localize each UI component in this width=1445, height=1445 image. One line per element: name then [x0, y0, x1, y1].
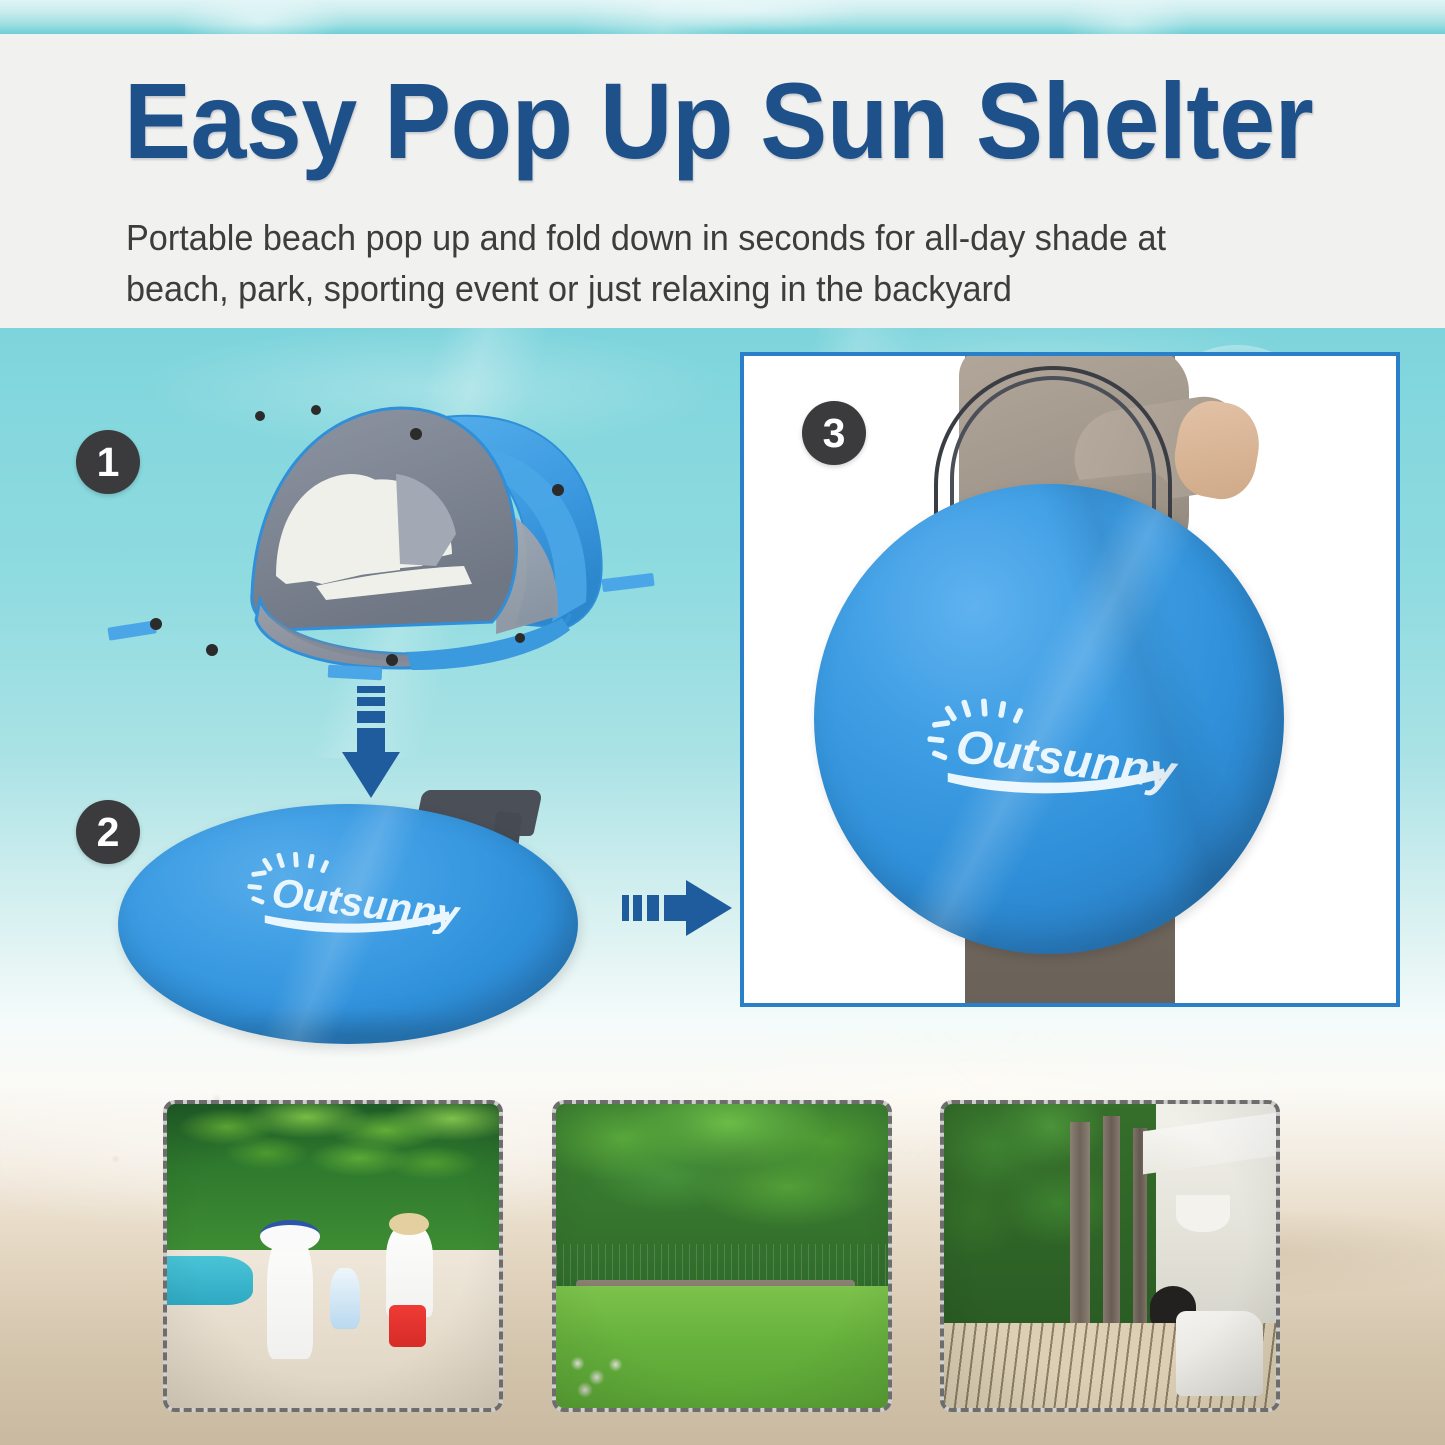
step-badge-3: 3	[802, 401, 866, 465]
folded-carry-bag: Outsunny	[118, 790, 578, 1048]
page-title: Easy Pop Up Sun Shelter	[124, 66, 1313, 176]
photo-beach-family	[163, 1100, 503, 1412]
pop-up-tent-illustration	[100, 388, 670, 688]
header-block: Easy Pop Up Sun Shelter Portable beach p…	[0, 34, 1445, 328]
product-infographic: Easy Pop Up Sun Shelter Portable beach p…	[0, 0, 1445, 1445]
photo-backyard-garden	[552, 1100, 892, 1412]
svg-text:Outsunny: Outsunny	[953, 720, 1181, 795]
arrow-right-icon	[622, 878, 734, 938]
outsunny-logo: Outsunny	[236, 852, 466, 934]
arrow-down-icon	[340, 686, 402, 804]
page-subtitle: Portable beach pop up and fold down in s…	[126, 212, 1247, 314]
top-sea-banner	[0, 0, 1445, 34]
photo-deck-patio	[940, 1100, 1280, 1412]
carry-bag-round: Outsunny	[814, 484, 1284, 954]
outsunny-logo: Outsunny	[914, 699, 1184, 796]
